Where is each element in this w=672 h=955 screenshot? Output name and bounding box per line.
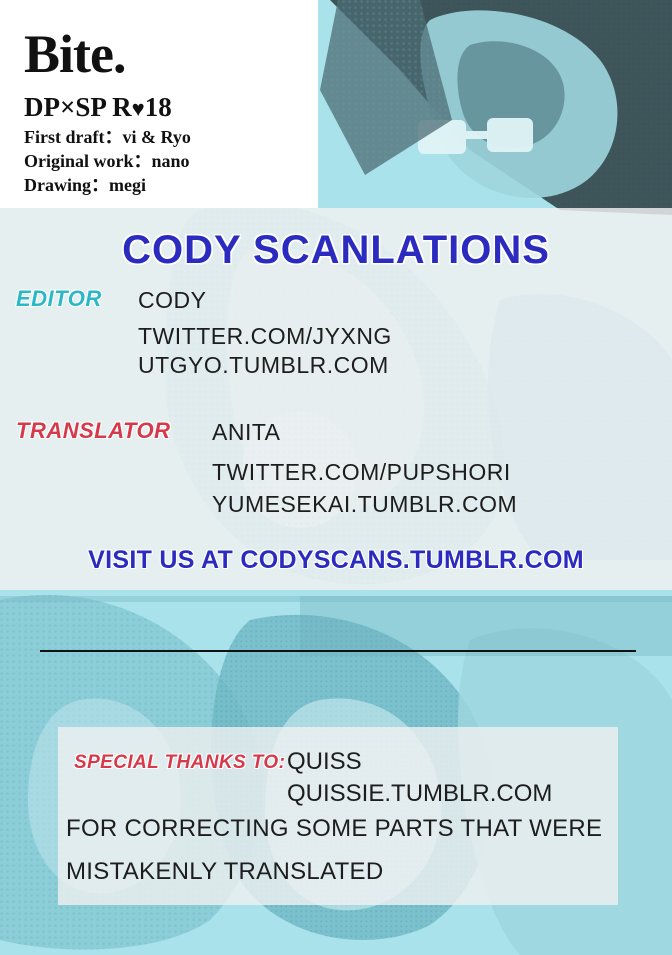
special-thanks-label: SPECIAL THANKS TO: xyxy=(74,752,285,774)
pairing-rating-line: DP×SP R♥18 xyxy=(24,92,172,123)
section-divider xyxy=(40,650,636,652)
visit-us-line[interactable]: VISIT US AT CODYSCANS.TUMBLR.COM xyxy=(0,546,672,575)
translator-link-tumblr[interactable]: YUMESEKAI.TUMBLR.COM xyxy=(212,491,517,518)
credit-line-first-draft: First draft：vi & Ryo xyxy=(24,126,191,150)
credit-line-drawing: Drawing：megi xyxy=(24,174,191,198)
rating-text: 18 xyxy=(145,92,172,122)
translator-label: TRANSLATOR xyxy=(16,418,171,444)
special-thanks-body-line-1: FOR CORRECTING SOME PARTS THAT WERE xyxy=(66,815,602,843)
header-credits: First draft：vi & Ryo Original work：nano … xyxy=(24,126,191,198)
editor-label: EDITOR xyxy=(16,286,102,312)
translator-name: ANITA xyxy=(212,419,281,446)
heart-icon: ♥ xyxy=(132,96,145,121)
brand-title: CODY SCANLATIONS xyxy=(0,228,672,273)
credits-page: Bite. DP×SP R♥18 First draft：vi & Ryo Or… xyxy=(0,0,672,955)
special-thanks-name: QUISS xyxy=(287,748,362,776)
page-title: Bite. xyxy=(24,27,125,81)
editor-link-tumblr[interactable]: UTGYO.TUMBLR.COM xyxy=(138,352,389,379)
pairing-text: DP×SP R xyxy=(24,92,132,122)
editor-link-twitter[interactable]: TWITTER.COM/JYXNG xyxy=(138,323,392,350)
special-thanks-body-line-2: MISTAKENLY TRANSLATED xyxy=(66,858,384,886)
special-thanks-link[interactable]: QUISSIE.TUMBLR.COM xyxy=(287,780,552,808)
translator-link-twitter[interactable]: TWITTER.COM/PUPSHORI xyxy=(212,459,511,486)
editor-name: CODY xyxy=(138,287,206,314)
credit-line-original-work: Original work：nano xyxy=(24,150,191,174)
